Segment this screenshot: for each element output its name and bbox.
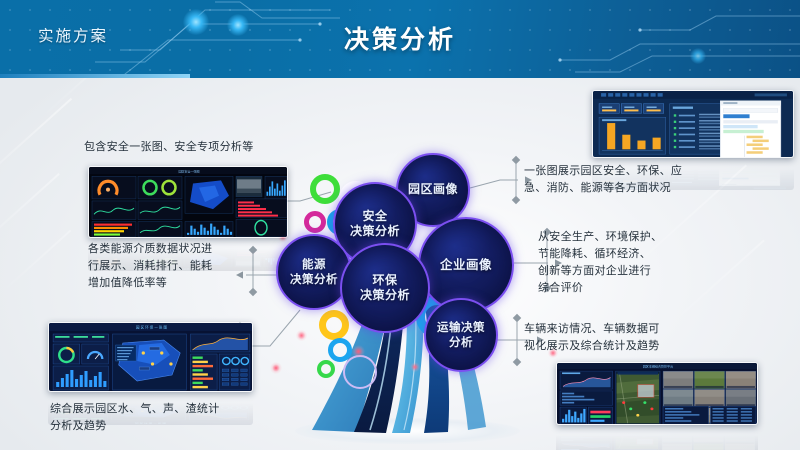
bubble-label: 运输决策 分析 [437, 320, 485, 349]
dashboard-safety-dashboard[interactable]: 园区安全一张图重点区域 [88, 166, 288, 238]
callout-transport-note: 车辆来访情况、车辆数据可 视化展示及综合统计及趋势 [524, 320, 714, 354]
svg-text:园区安全一张图: 园区安全一张图 [179, 168, 200, 173]
ring-green-1 [310, 174, 340, 204]
bubble-label: 企业画像 [440, 257, 492, 273]
slide-canvas: 实施方案 决策分析 [0, 0, 800, 450]
bubble-label: 园区画像 [408, 182, 458, 197]
callout-park-note: 一张图展示园区安全、环保、应 急、消防、能源等各方面状况 [524, 162, 714, 196]
callout-enterprise-note: 从安全生产、环境保护、 节能降耗、循环经济、 创新等方面对企业进行 综合评价 [538, 228, 718, 296]
dashboard-transport-dashboard[interactable]: 园区车辆综合管控平台 [556, 362, 758, 425]
bubble-transport-analysis[interactable]: 运输决策 分析 [424, 298, 498, 372]
bubble-label: 环保 决策分析 [360, 273, 410, 304]
slide-header: 实施方案 决策分析 [0, 0, 800, 78]
callout-environment-note: 综合展示园区水、气、声、渣统计 分析及趋势 [50, 400, 280, 434]
callout-safety-note: 包含安全一张图、安全专项分析等 [84, 138, 314, 155]
bubble-label: 安全 决策分析 [350, 209, 400, 240]
callout-energy-note: 各类能源介质数据状况进 行展示、消耗排行、能耗 增加值降低率等 [88, 240, 238, 291]
page-title: 决策分析 [0, 20, 800, 56]
ring-magenta [304, 211, 326, 233]
header-underline [0, 74, 190, 78]
bubble-label: 能源 决策分析 [290, 257, 338, 286]
ring-white-2 [343, 355, 377, 389]
bubble-environment-analysis[interactable]: 环保 决策分析 [340, 243, 430, 333]
svg-text:园 区 环 保 一 张 图: 园 区 环 保 一 张 图 [136, 325, 168, 330]
flare-dot-5 [410, 362, 420, 372]
dashboard-environment-dashboard[interactable]: 园 区 环 保 一 张 图 [48, 322, 253, 392]
dashboard-reflection-transport-dashboard: 园区车辆综合管控平台 [556, 426, 758, 450]
svg-text:园区车辆综合管控平台: 园区车辆综合管控平台 [643, 364, 673, 369]
flare-dot-7 [270, 362, 282, 374]
svg-text:重点区域: 重点区域 [243, 255, 253, 257]
flare-dot-3 [296, 330, 307, 341]
dashboard-park-dashboard[interactable] [592, 90, 794, 158]
ring-yellow [319, 310, 349, 340]
ring-green-2 [317, 360, 335, 378]
flare-dot-4 [352, 345, 365, 358]
